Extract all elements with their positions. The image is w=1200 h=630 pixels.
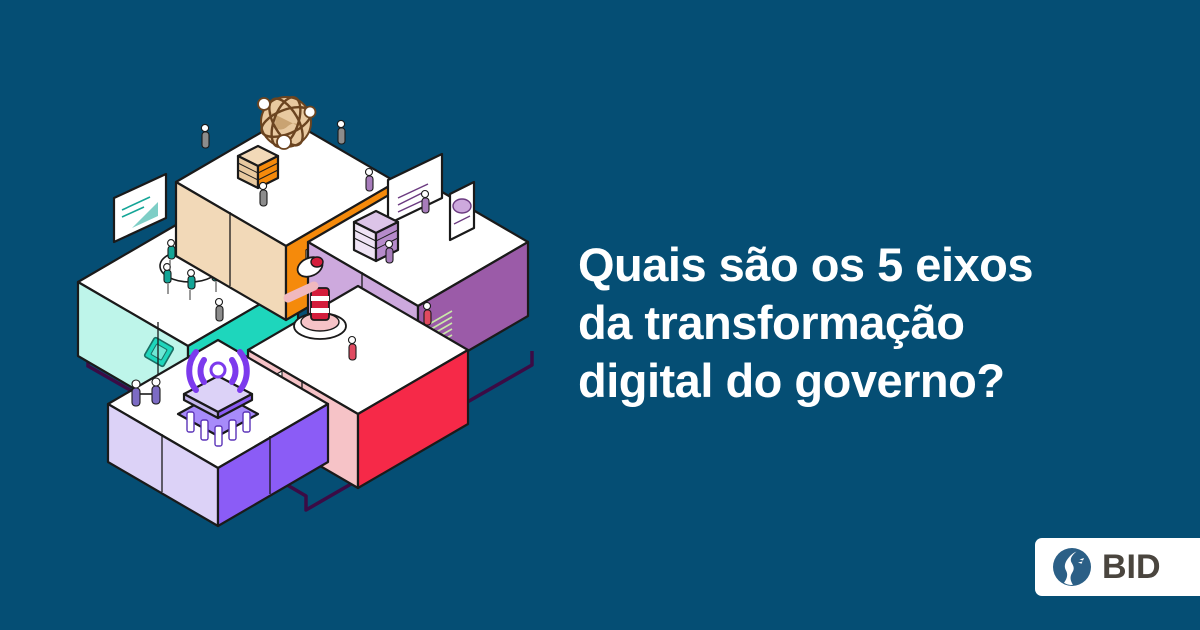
seated-person-icon (216, 299, 224, 322)
headline-line-3: digital do governo? (578, 352, 1158, 410)
isometric-illustration: .o{stroke:#1A1A1A;stroke-width:2.2;strok… (70, 70, 550, 530)
page-title: Quais são os 5 eixos da transformação di… (578, 236, 1158, 410)
headline-line-1: Quais são os 5 eixos (578, 236, 1158, 294)
headline-line-2: da transformação (578, 294, 1158, 352)
illustration-svg: .o{stroke:#1A1A1A;stroke-width:2.2;strok… (70, 70, 550, 530)
bid-globe-americas-icon (1052, 547, 1092, 587)
promo-card: .o{stroke:#1A1A1A;stroke-width:2.2;strok… (0, 0, 1200, 630)
bid-logo: BID (1035, 538, 1200, 596)
server-rack-icon (238, 146, 278, 188)
chart-screen-icon (114, 174, 166, 242)
bid-wordmark: BID (1102, 550, 1161, 584)
